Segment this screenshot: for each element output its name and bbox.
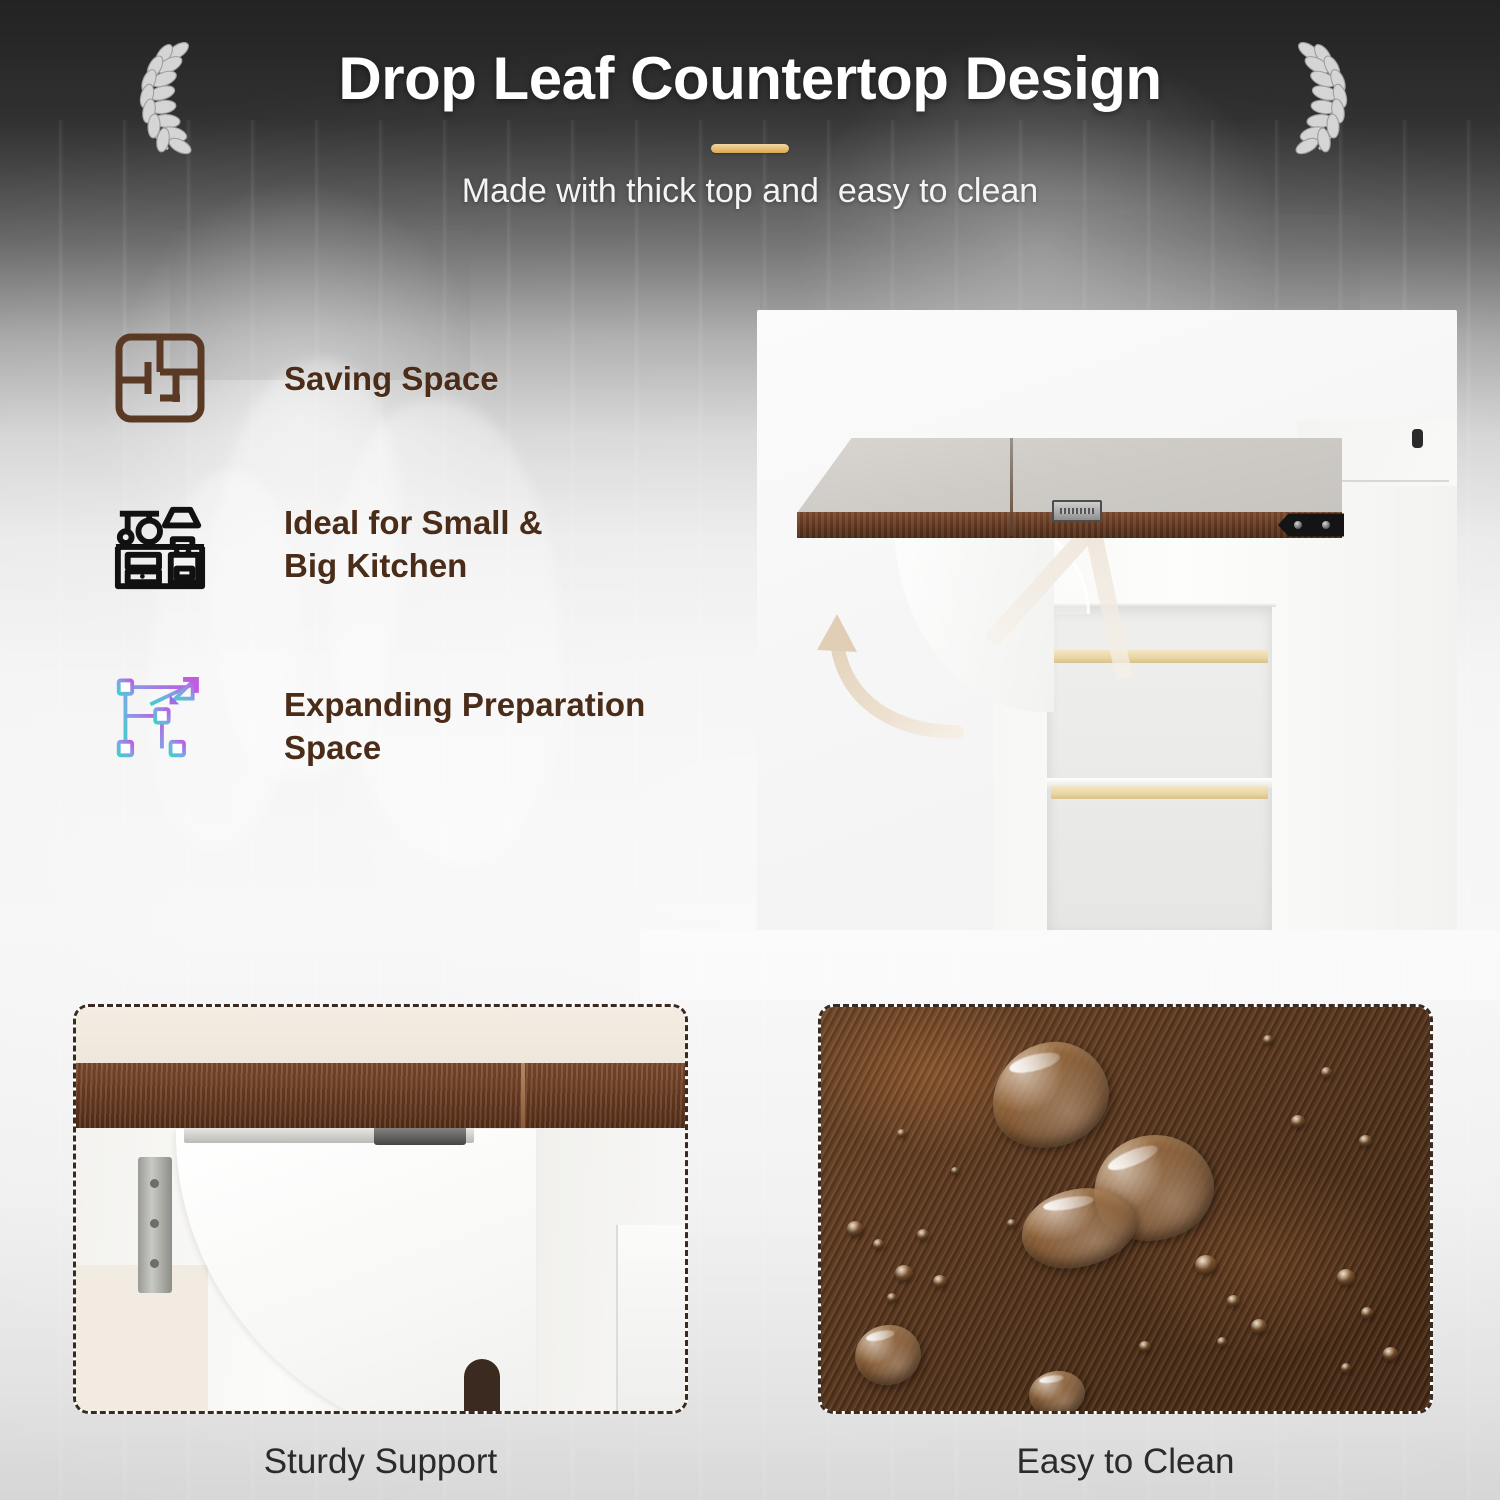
- support-bracket-clip: [374, 1125, 466, 1145]
- water-bead: [1359, 1135, 1372, 1147]
- feature-item-expanding-space: Expanding Preparation Space: [112, 666, 645, 770]
- easy-to-clean-card: [818, 1004, 1433, 1414]
- black-hinge-bracket: [1278, 512, 1344, 538]
- drop-leaf-kitchen-island-photo: [757, 310, 1457, 930]
- water-bead: [1263, 1035, 1273, 1045]
- water-bead: [873, 1239, 884, 1250]
- title-divider: [711, 144, 789, 153]
- hinge-screw: [150, 1259, 159, 1268]
- water-bead: [933, 1275, 947, 1288]
- water-bead: [1337, 1269, 1355, 1286]
- kitchen-counter-icon: [112, 498, 208, 594]
- water-bead: [1217, 1337, 1227, 1347]
- marketing-infographic: Drop Leaf Countertop Design Made with th…: [0, 0, 1500, 1500]
- shelf-rail: [1051, 786, 1268, 799]
- countertop-wood-edge: [76, 1063, 688, 1128]
- countertop-fold-seam: [1010, 438, 1013, 536]
- shelf-rail: [1051, 650, 1268, 663]
- water-bead: [887, 1293, 897, 1303]
- background-counter-band: [640, 930, 1500, 1000]
- water-bead: [951, 1167, 959, 1175]
- feature-label: Saving Space: [284, 358, 499, 401]
- water-bead: [1383, 1347, 1398, 1361]
- leaf-finger-notch: [464, 1359, 500, 1414]
- cabinet-knob: [1412, 429, 1423, 448]
- card-caption: Sturdy Support: [73, 1442, 688, 1482]
- water-bead: [897, 1129, 906, 1138]
- water-bead: [1007, 1219, 1016, 1228]
- floor-plan-icon: [112, 330, 208, 426]
- hinge-screw: [150, 1179, 159, 1188]
- expand-area-icon: [112, 666, 208, 762]
- countertop-surface: [76, 1007, 688, 1063]
- card-caption: Easy to Clean: [818, 1442, 1433, 1482]
- water-bead: [1195, 1255, 1217, 1275]
- hinge-screw: [150, 1219, 159, 1228]
- page-title: Drop Leaf Countertop Design: [0, 44, 1500, 113]
- feature-label: Expanding Preparation Space: [284, 684, 645, 770]
- water-bead: [1139, 1341, 1151, 1352]
- sturdy-support-card: [73, 1004, 688, 1414]
- metal-latch: [1052, 500, 1102, 522]
- cabinet-door: [616, 1225, 688, 1414]
- feature-item-ideal-kitchen: Ideal for Small & Big Kitchen: [112, 498, 543, 594]
- drop-leaf-countertop: [797, 438, 1342, 534]
- hinge-screw: [1322, 521, 1330, 529]
- water-bead: [1227, 1295, 1240, 1307]
- countertop-fold-seam: [521, 1063, 525, 1128]
- water-bead: [1321, 1067, 1332, 1078]
- feature-item-saving-space: Saving Space: [112, 330, 499, 426]
- water-bead: [895, 1265, 913, 1282]
- metal-hinge: [138, 1157, 172, 1293]
- page-subtitle: Made with thick top and easy to clean: [0, 172, 1500, 211]
- header: Drop Leaf Countertop Design Made with th…: [0, 0, 1500, 250]
- water-bead: [847, 1221, 863, 1237]
- water-bead: [1251, 1319, 1267, 1334]
- curved-rotation-arrow-icon: [807, 600, 1017, 765]
- hinge-screw: [1294, 521, 1302, 529]
- feature-label: Ideal for Small & Big Kitchen: [284, 502, 543, 588]
- water-bead: [1291, 1115, 1305, 1128]
- water-bead: [1361, 1307, 1373, 1319]
- water-bead: [1341, 1363, 1351, 1373]
- water-bead: [917, 1229, 929, 1241]
